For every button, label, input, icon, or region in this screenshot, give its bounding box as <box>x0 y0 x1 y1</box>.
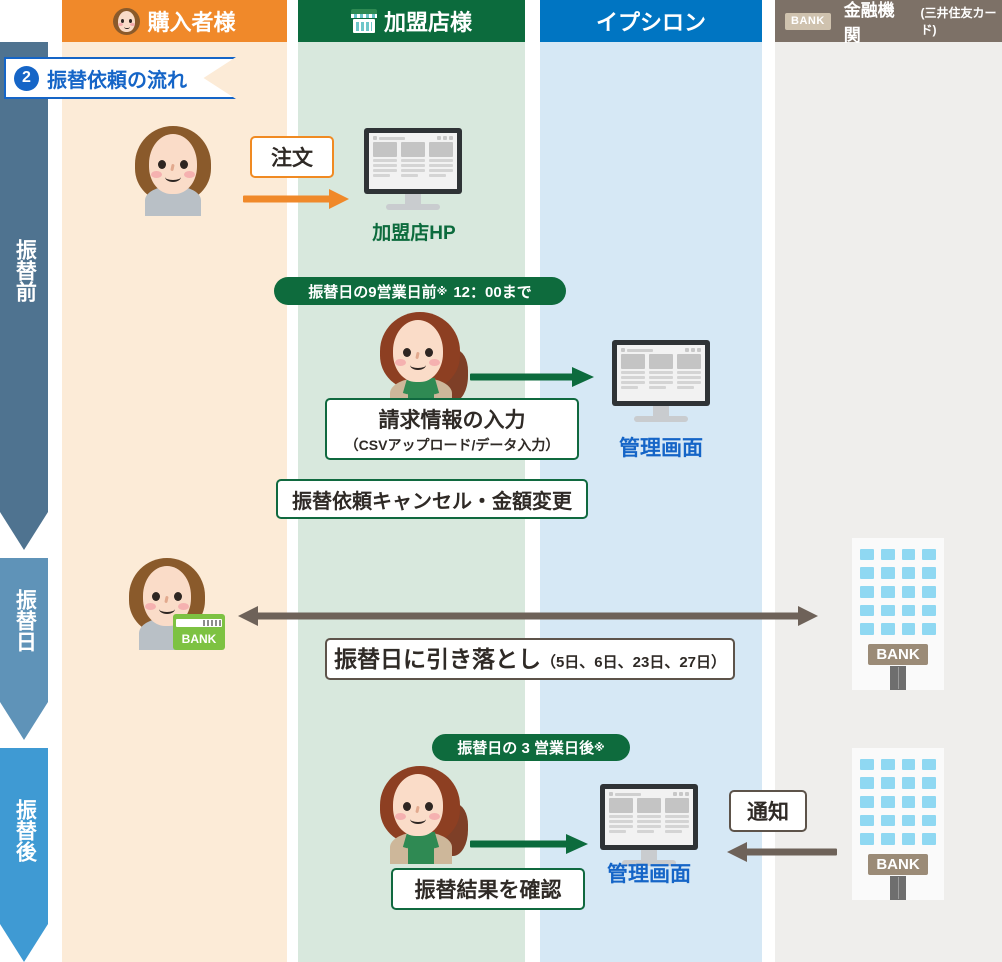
bank-building-1: BANK <box>852 538 944 690</box>
footnote-mark-1: ※ <box>437 285 448 298</box>
bankbook-icon: BANK <box>173 614 225 650</box>
cancel-amount-change-box: 振替依頼キャンセル・金額変更 <box>276 479 588 519</box>
merchant-person-2 <box>374 766 478 864</box>
footnote-mark-2: ※ <box>594 741 605 754</box>
phase-label-before: 振替前 <box>0 200 48 340</box>
bank-sign-1: BANK <box>868 644 929 665</box>
merchant-site-monitor <box>364 128 462 220</box>
phase-label-payment-day: 振替日 <box>0 560 48 680</box>
admin-screen-caption: 管理画面 <box>601 432 721 462</box>
lane-title-merchant: 加盟店様 <box>384 5 472 37</box>
buyer-avatar-icon <box>113 8 140 35</box>
billing-input-box: 請求情報の入力 （CSVアップロード/データ入力） <box>325 398 579 460</box>
lane-title-bank: 金融機関 <box>844 0 912 46</box>
order-label-box: 注文 <box>250 136 334 178</box>
confirm-result-box: 振替結果を確認 <box>391 868 585 910</box>
lane-subtitle-bank: (三井住友カード) <box>920 4 1002 38</box>
bank-door-1 <box>890 666 907 690</box>
result-timing-pill: 振替日の 3 営業日後 ※ <box>432 734 630 761</box>
bank-building-2: BANK <box>852 748 944 900</box>
flow-title-text: 振替依頼の流れ <box>47 64 187 93</box>
lane-title-buyer: 購入者様 <box>147 5 235 37</box>
lane-header-merchant[interactable]: 加盟店様 <box>298 0 525 42</box>
bank-door-2 <box>890 876 907 900</box>
buyer-person-2: BANK <box>127 558 223 650</box>
lane-header-bank[interactable]: BANK 金融機関 (三井住友カード) <box>775 0 1002 42</box>
admin-screen-monitor <box>612 340 710 432</box>
bank-sign-2: BANK <box>868 854 929 875</box>
flow-diagram: 振替前 振替日 振替後 購入者様 加盟店様 イプシロン BANK 金融機関 <box>0 0 1002 962</box>
flow-number-badge: 2 <box>14 66 39 91</box>
lane-title-epsilon: イプシロン <box>596 5 706 37</box>
lane-header-epsilon[interactable]: イプシロン <box>540 0 762 42</box>
merchant-person-1 <box>374 312 478 410</box>
request-deadline-pill: 振替日の9営業日前 ※ 12：00まで <box>274 277 566 305</box>
lane-header-buyer[interactable]: 購入者様 <box>62 0 287 42</box>
bank-chip-icon: BANK <box>785 13 831 30</box>
admin-screen-caption-2: 管理画面 <box>589 858 709 888</box>
shop-icon <box>351 9 377 33</box>
withdrawal-box: 振替日に引き落とし （5日、6日、23日、27日） <box>325 638 735 680</box>
merchant-hp-caption: 加盟店HP <box>354 218 474 245</box>
notify-label-box: 通知 <box>729 790 807 832</box>
buyer-person-1 <box>131 126 215 216</box>
phase-label-after: 振替後 <box>0 770 48 890</box>
flow-title-banner: 2 振替依頼の流れ <box>4 57 236 99</box>
